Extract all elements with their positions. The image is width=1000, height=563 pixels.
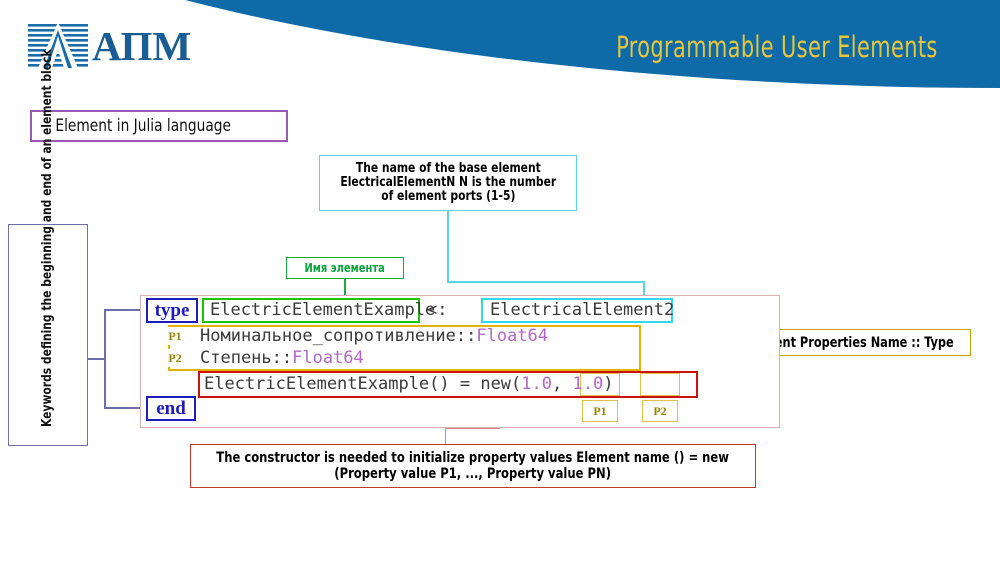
code-ctor-value1: 1.0 [521,374,552,394]
brand-logo: АПМ [28,22,208,70]
code-block: type end ElectricElementExample <: Elect… [140,295,780,428]
code-line-type: ElectricElementExample [210,300,435,320]
code-line-prop1: Номинальное_сопротивление::Float64 [200,326,548,346]
constructor-callout-line2: (Property value P1, ..., Property value … [335,466,612,482]
constructor-value2-highlight [640,373,680,396]
code-element-name: ElectricElementExample [210,300,435,320]
code-prop1-name: Номинальное_сопротивление:: [200,326,476,346]
base-callout-line2: ElectricalElementN N is the number [340,175,556,190]
keyword-type-text: type [155,300,190,322]
ctor-value2-badge: P2 [642,400,678,422]
keyword-type-box: type [146,298,198,323]
prop1-badge: P1 [162,327,188,345]
keywords-callout: Keywords defining the beginning and end … [8,224,88,446]
subtitle-text: Element in Julia language [32,116,231,136]
keywords-connector-bottom [104,407,144,409]
constructor-callout-text: The constructor is needed to initialize … [217,450,730,482]
base-element-callout: The name of the base element ElectricalE… [319,155,577,211]
cyan-connector-seg2 [447,281,645,283]
slide-canvas: Programmable User Elements АПМ Element i… [0,0,1000,563]
ctor-value1-badge: P1 [582,400,618,422]
apm-logo-icon [28,22,88,68]
keyword-end-text: end [156,398,186,420]
code-ctor-separator: , [552,374,572,394]
red-connector-seg1 [445,429,446,444]
cyan-connector-seg1 [447,211,449,283]
prop2-badge: P2 [162,349,188,367]
code-ctor-call: ElectricElementExample() = new( [204,374,521,394]
code-subtype-operator: <: [427,300,447,320]
code-ctor-value2: 1.0 [572,374,603,394]
constructor-callout-line1: The constructor is needed to initialize … [217,450,730,466]
code-prop1-type: Float64 [476,326,548,346]
keyword-end-box: end [146,396,196,421]
brand-name: АПМ [92,24,191,68]
code-line-constructor: ElectricElementExample() = new(1.0, 1.0) [204,374,613,394]
base-element-callout-text: The name of the base element ElectricalE… [340,162,556,204]
keywords-callout-text: Keywords defining the beginning and end … [39,243,57,427]
element-name-callout: Имя элемента [286,257,404,279]
constructor-callout: The constructor is needed to initialize … [190,444,756,488]
subtitle-box: Element in Julia language [30,110,288,142]
red-connector-seg2 [445,428,500,429]
base-callout-line1: The name of the base element [356,161,541,176]
code-prop2-type: Float64 [292,348,364,368]
code-line-prop2: Степень::Float64 [200,348,364,368]
base-callout-line3: of element ports (1-5) [381,189,515,204]
keywords-connector-mid [88,358,106,360]
code-prop2-name: Степень:: [200,348,292,368]
keywords-connector-top [104,309,144,311]
element-name-callout-text: Имя элемента [305,261,385,275]
page-title: Programmable User Elements [616,30,938,64]
code-base-element: ElectricalElement2 [490,300,674,320]
code-ctor-close: ) [603,374,613,394]
